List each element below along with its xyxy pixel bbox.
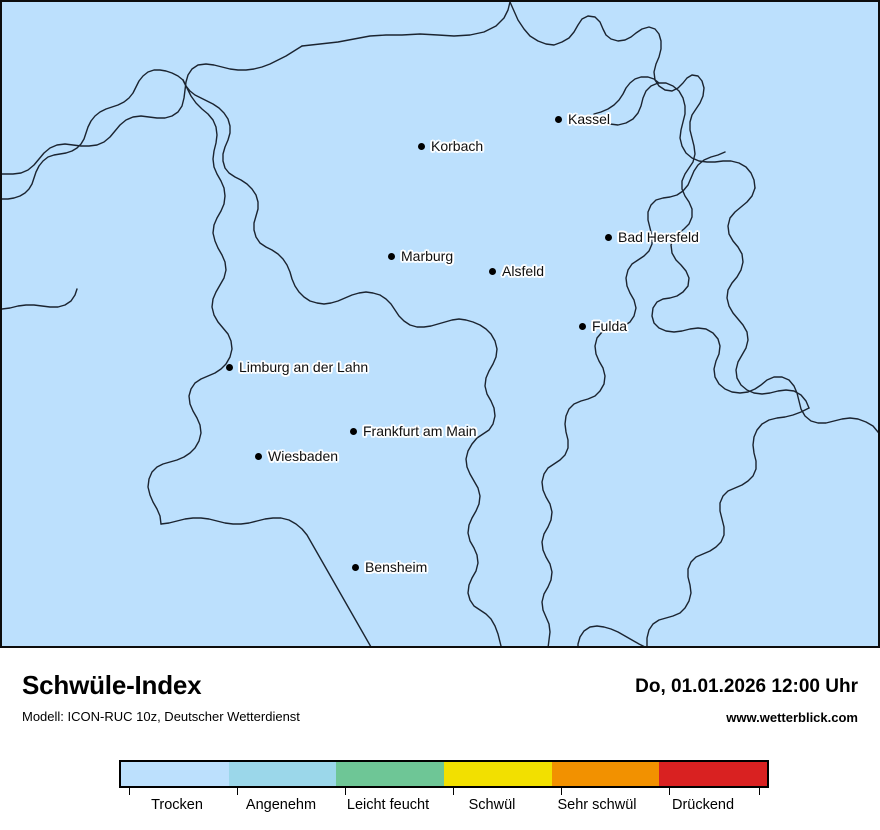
page-title: Schwüle-Index bbox=[22, 670, 201, 701]
legend-segment-trocken bbox=[121, 762, 229, 786]
city-dot-icon bbox=[352, 564, 359, 571]
city-dot-icon bbox=[605, 234, 612, 241]
city-label: Marburg bbox=[401, 249, 453, 263]
border-wiesbaden-south bbox=[161, 518, 372, 648]
city-label: Alsfeld bbox=[502, 264, 544, 278]
city-marker-frankfurt-am-main[interactable]: Frankfurt am Main bbox=[350, 424, 477, 438]
model-subtitle: Modell: ICON-RUC 10z, Deutscher Wetterdi… bbox=[22, 709, 300, 724]
border-southeast bbox=[647, 408, 809, 648]
legend-segment-sehr-schwuel bbox=[552, 762, 660, 786]
border-north-2 bbox=[510, 2, 880, 438]
city-label: Frankfurt am Main bbox=[363, 424, 477, 438]
legend-labels: Trocken Angenehm Leicht feucht Schwül Se… bbox=[119, 796, 769, 816]
city-dot-icon bbox=[579, 323, 586, 330]
border-west-rlp bbox=[2, 70, 183, 199]
legend-label-trocken: Trocken bbox=[151, 796, 203, 814]
city-marker-kassel[interactable]: Kassel bbox=[555, 112, 610, 126]
city-marker-limburg-an-der-lahn[interactable]: Limburg an der Lahn bbox=[226, 360, 368, 374]
legend-label-sehr-schwuel: Sehr schwül bbox=[558, 796, 637, 814]
legend-label-drueckend: Drückend bbox=[672, 796, 734, 814]
legend-tick bbox=[561, 788, 562, 795]
legend-tick bbox=[345, 788, 346, 795]
city-marker-fulda[interactable]: Fulda bbox=[579, 319, 627, 333]
city-dot-icon bbox=[226, 364, 233, 371]
city-dot-icon bbox=[418, 143, 425, 150]
map-panel[interactable]: Kassel Korbach Bad Hersfeld Marburg Alsf… bbox=[0, 0, 880, 648]
city-dot-icon bbox=[255, 453, 262, 460]
legend-label-leicht-feucht: Leicht feucht bbox=[347, 796, 429, 814]
legend-label-schwuel: Schwül bbox=[469, 796, 516, 814]
legend-segment-schwuel bbox=[444, 762, 552, 786]
city-marker-wiesbaden[interactable]: Wiesbaden bbox=[255, 449, 338, 463]
city-marker-alsfeld[interactable]: Alsfeld bbox=[489, 264, 544, 278]
legend-color-bar bbox=[119, 760, 769, 788]
legend-tick bbox=[237, 788, 238, 795]
legend-segment-angenehm bbox=[229, 762, 337, 786]
city-dot-icon bbox=[388, 253, 395, 260]
city-marker-korbach[interactable]: Korbach bbox=[418, 139, 483, 153]
border-kassel-east bbox=[602, 83, 755, 188]
legend-label-angenehm: Angenehm bbox=[246, 796, 316, 814]
city-label: Wiesbaden bbox=[268, 449, 338, 463]
city-label: Fulda bbox=[592, 319, 627, 333]
legend-tick bbox=[129, 788, 130, 795]
footer-panel: Schwüle-Index Modell: ICON-RUC 10z, Deut… bbox=[0, 648, 880, 830]
city-dot-icon bbox=[555, 116, 562, 123]
map-borders-svg bbox=[2, 2, 880, 648]
city-marker-marburg[interactable]: Marburg bbox=[388, 249, 453, 263]
city-marker-bad-hersfeld[interactable]: Bad Hersfeld bbox=[605, 230, 699, 244]
city-label: Korbach bbox=[431, 139, 483, 153]
legend-tick bbox=[759, 788, 760, 795]
city-dot-icon bbox=[489, 268, 496, 275]
legend-tick bbox=[453, 788, 454, 795]
border-kassel-arm bbox=[594, 77, 659, 114]
weather-map-page: Kassel Korbach Bad Hersfeld Marburg Alsf… bbox=[0, 0, 880, 830]
border-northwest bbox=[2, 46, 302, 174]
border-south bbox=[578, 626, 647, 648]
border-east bbox=[727, 188, 809, 408]
website-url: www.wetterblick.com bbox=[726, 710, 858, 725]
border-north bbox=[302, 2, 510, 46]
city-marker-bensheim[interactable]: Bensheim bbox=[352, 560, 427, 574]
city-dot-icon bbox=[350, 428, 357, 435]
city-label: Limburg an der Lahn bbox=[239, 360, 368, 374]
legend-segment-drueckend bbox=[659, 762, 767, 786]
city-label: Kassel bbox=[568, 112, 610, 126]
forecast-timestamp: Do, 01.01.2026 12:00 Uhr bbox=[635, 676, 858, 698]
city-label: Bad Hersfeld bbox=[618, 230, 699, 244]
border-west-nub bbox=[2, 289, 77, 309]
border-limburg-west bbox=[148, 80, 232, 524]
legend-tick-marks bbox=[119, 788, 769, 795]
city-label: Bensheim bbox=[365, 560, 427, 574]
border-east-inner bbox=[542, 152, 725, 648]
legend-segment-leicht-feucht bbox=[336, 762, 444, 786]
legend: Trocken Angenehm Leicht feucht Schwül Se… bbox=[119, 760, 769, 816]
legend-tick bbox=[669, 788, 670, 795]
